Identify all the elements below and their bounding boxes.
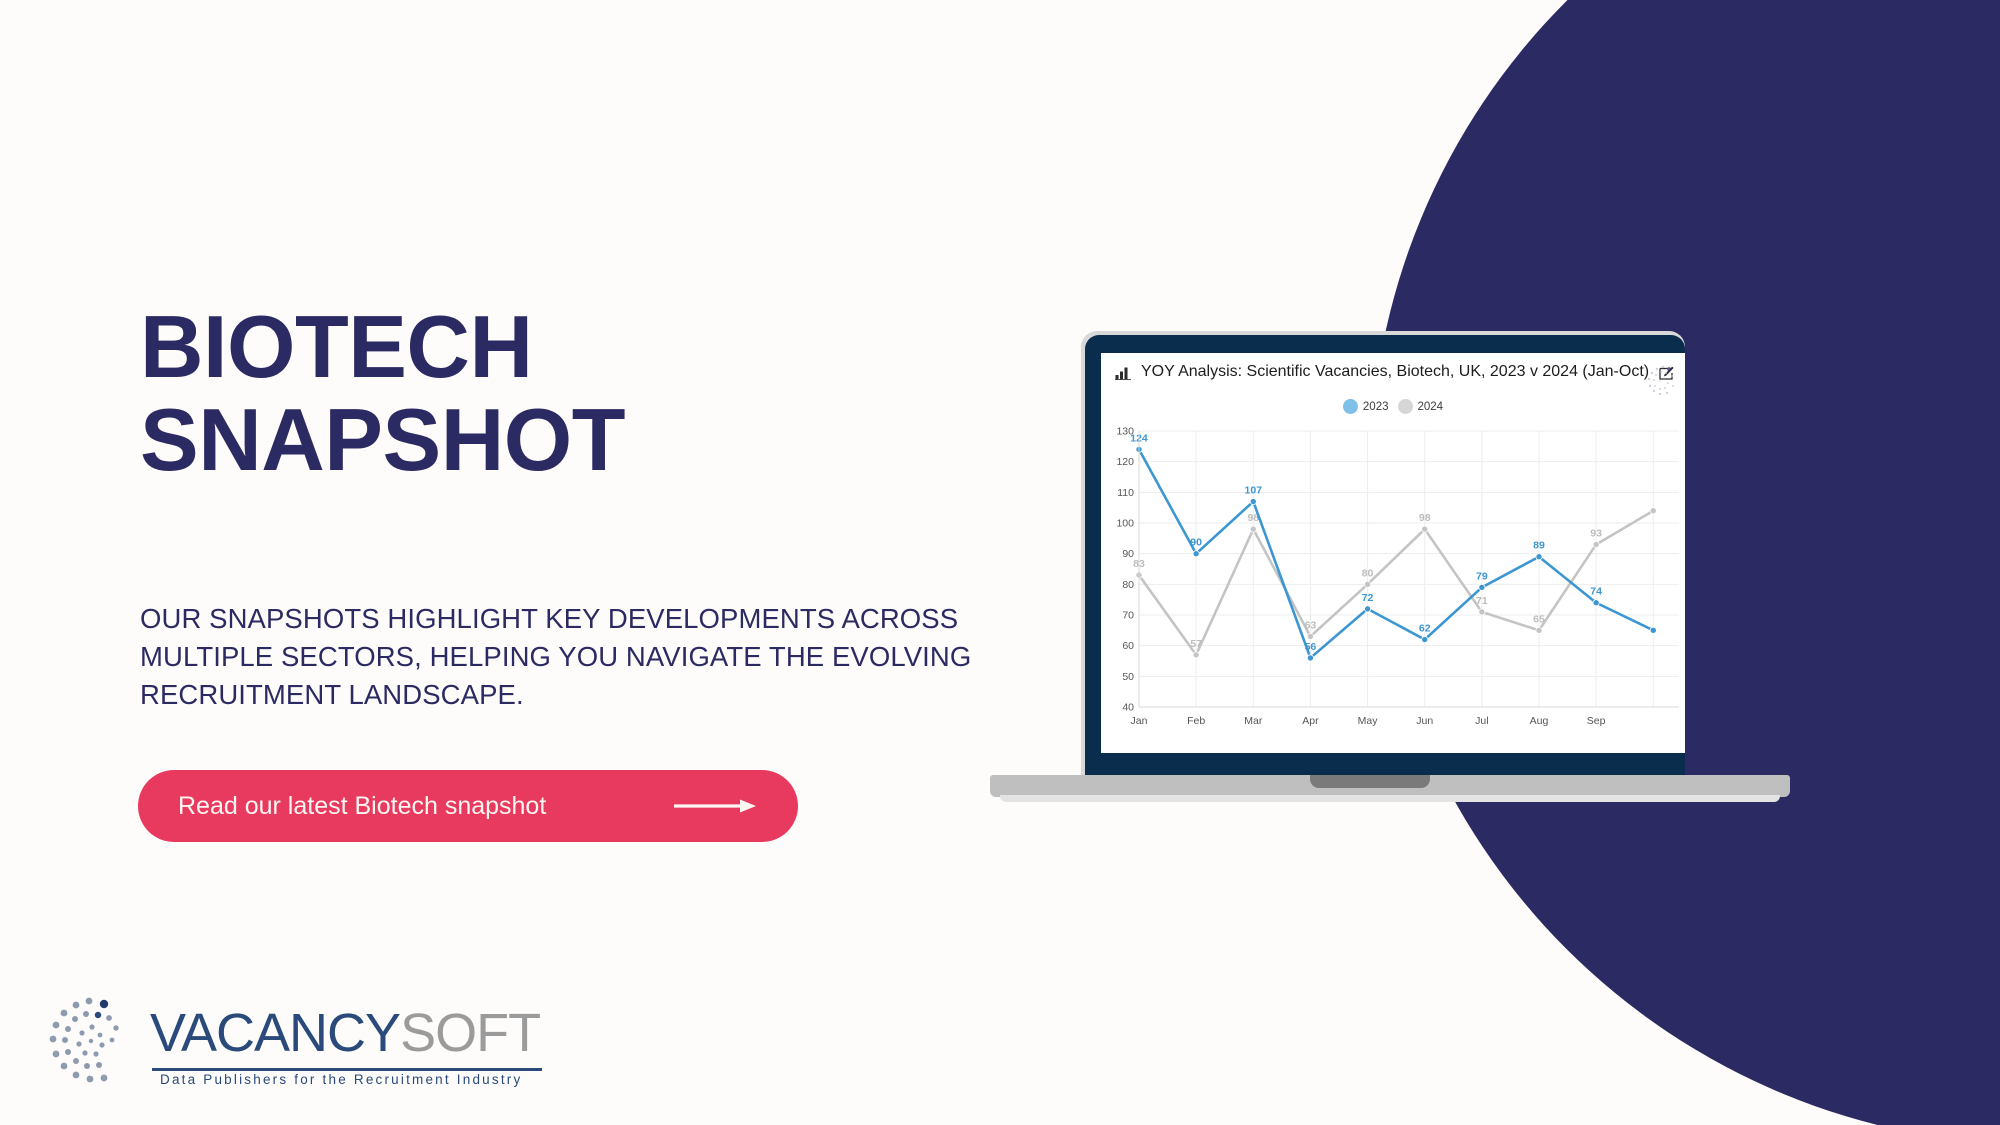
headline-line-2: SNAPSHOT [140, 393, 900, 486]
laptop-mockup: YOY Analysis: Scientific Vacancies, Biot… [1005, 335, 1685, 805]
svg-text:62: 62 [1419, 623, 1431, 635]
logo-divider [152, 1068, 542, 1071]
svg-text:70: 70 [1122, 610, 1134, 622]
laptop-base-shadow [1000, 795, 1780, 802]
svg-text:Mar: Mar [1244, 715, 1263, 727]
poster-canvas: BIOTECH SNAPSHOT OUR SNAPSHOTS HIGHLIGHT… [0, 0, 2000, 1125]
svg-text:Apr: Apr [1302, 715, 1319, 727]
laptop-screen: YOY Analysis: Scientific Vacancies, Biot… [1101, 353, 1685, 753]
legend-swatch-2023 [1343, 399, 1358, 414]
vacancysoft-logo: VACANCYSOFT Data Publishers for the Recr… [42, 990, 562, 1100]
vacancysoft-dots-watermark-icon [1639, 361, 1679, 401]
svg-text:72: 72 [1362, 592, 1374, 604]
legend-label-2024: 2024 [1418, 401, 1444, 413]
svg-text:May: May [1358, 715, 1379, 727]
chart-title-text: YOY Analysis: Scientific Vacancies, Biot… [1141, 363, 1649, 381]
svg-text:56: 56 [1305, 641, 1317, 653]
svg-text:79: 79 [1476, 570, 1488, 582]
svg-text:107: 107 [1245, 485, 1263, 497]
logo-tagline: Data Publishers for the Recruitment Indu… [160, 1072, 522, 1087]
svg-text:98: 98 [1419, 512, 1431, 524]
svg-text:Jun: Jun [1416, 715, 1433, 727]
page-title: BIOTECH SNAPSHOT [140, 300, 900, 487]
svg-text:50: 50 [1122, 671, 1134, 683]
svg-text:Feb: Feb [1187, 715, 1205, 727]
logo-wordmark: VACANCYSOFT [150, 1002, 540, 1064]
svg-text:71: 71 [1476, 595, 1488, 607]
laptop-trackpad-notch [1310, 775, 1430, 788]
legend-label-2023: 2023 [1363, 401, 1389, 413]
svg-text:110: 110 [1117, 487, 1134, 499]
svg-text:89: 89 [1533, 540, 1545, 552]
svg-text:Jan: Jan [1131, 715, 1148, 727]
read-snapshot-button[interactable]: Read our latest Biotech snapshot [138, 770, 798, 842]
svg-text:40: 40 [1122, 702, 1134, 714]
svg-text:120: 120 [1116, 456, 1134, 468]
svg-text:90: 90 [1190, 537, 1202, 549]
svg-text:63: 63 [1305, 619, 1317, 631]
legend-item-2024[interactable]: 2024 [1398, 399, 1444, 414]
dot-swirl-icon [42, 990, 152, 1095]
svg-text:57: 57 [1190, 638, 1202, 650]
svg-text:74: 74 [1590, 586, 1602, 598]
chart-card-title: YOY Analysis: Scientific Vacancies, Biot… [1115, 363, 1674, 381]
cta-label: Read our latest Biotech snapshot [178, 792, 546, 821]
headline-line-1: BIOTECH [140, 297, 533, 396]
laptop-lid: YOY Analysis: Scientific Vacancies, Biot… [1085, 335, 1685, 775]
line-chart-plot: 405060708090100110120130JanFebMarAprMayJ… [1101, 419, 1685, 739]
svg-text:60: 60 [1122, 640, 1134, 652]
legend-item-2023[interactable]: 2023 [1343, 399, 1389, 414]
svg-text:80: 80 [1362, 567, 1374, 579]
svg-text:80: 80 [1122, 579, 1134, 591]
svg-text:Jul: Jul [1475, 715, 1488, 727]
chart-legend: 2023 2024 [1101, 399, 1685, 414]
svg-text:93: 93 [1590, 527, 1602, 539]
svg-text:Aug: Aug [1530, 715, 1549, 727]
logo-wordmark-part-1: VACANCY [150, 1003, 400, 1063]
svg-text:100: 100 [1116, 518, 1134, 530]
bar-chart-icon [1115, 365, 1131, 380]
subheading-text: OUR SNAPSHOTS HIGHLIGHT KEY DEVELOPMENTS… [140, 600, 1000, 714]
svg-text:65: 65 [1533, 613, 1545, 625]
arrow-right-icon [674, 798, 756, 814]
legend-swatch-2024 [1398, 399, 1413, 414]
logo-wordmark-part-2: SOFT [400, 1003, 540, 1063]
svg-text:Sep: Sep [1587, 715, 1606, 727]
